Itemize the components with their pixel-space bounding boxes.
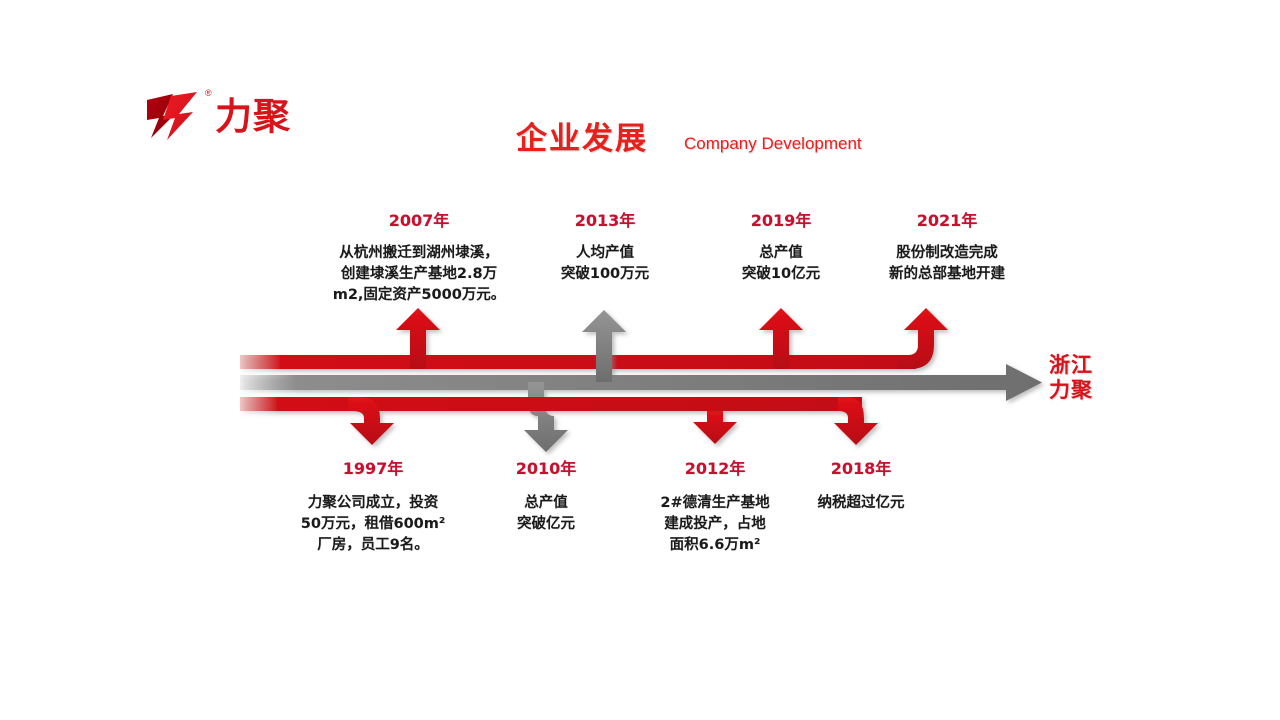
timeline-node-2013: 2013年 人均产值 突破100万元 xyxy=(524,207,686,285)
timeline-node-2012: 2012年 2#德清生产基地 建成投产，占地 面积6.6万m² xyxy=(632,455,798,556)
node-year: 2021年 xyxy=(858,207,1036,231)
timeline-node-1997: 1997年 力聚公司成立，投资 50万元，租借600m² 厂房，员工9名。 xyxy=(262,455,484,556)
registered-trademark-symbol: ® xyxy=(205,88,212,98)
timeline-end-label: 浙江 力聚 xyxy=(1049,353,1093,403)
top-red-track xyxy=(240,308,948,369)
timeline-node-2018: 2018年 纳税超过亿元 xyxy=(782,455,940,514)
node-description: 人均产值 突破100万元 xyxy=(524,243,686,285)
node-description: 纳税超过亿元 xyxy=(782,493,940,514)
page-title-english: Company Development xyxy=(684,134,862,154)
node-year: 2013年 xyxy=(524,207,686,231)
middle-gray-track xyxy=(240,310,1042,452)
timeline-node-2019: 2019年 总产值 突破10亿元 xyxy=(700,207,862,285)
node-description: 从杭州搬迁到湖州埭溪， 创建埭溪生产基地2.8万 m2,固定资产5000万元。 xyxy=(288,243,550,306)
timeline-node-2007: 2007年 从杭州搬迁到湖州埭溪， 创建埭溪生产基地2.8万 m2,固定资产50… xyxy=(288,207,550,306)
node-year: 2010年 xyxy=(466,455,626,479)
node-description: 总产值 突破10亿元 xyxy=(700,243,862,285)
node-description: 2#德清生产基地 建成投产，占地 面积6.6万m² xyxy=(632,493,798,556)
logo-wordmark: 力聚 xyxy=(215,95,291,139)
bottom-red-track xyxy=(240,397,878,445)
node-description: 股份制改造完成 新的总部基地开建 xyxy=(858,243,1036,285)
node-year: 2012年 xyxy=(632,455,798,479)
timeline-node-2021: 2021年 股份制改造完成 新的总部基地开建 xyxy=(858,207,1036,285)
node-year: 1997年 xyxy=(262,455,484,479)
timeline-node-2010: 2010年 总产值 突破亿元 xyxy=(466,455,626,535)
node-description: 力聚公司成立，投资 50万元，租借600m² 厂房，员工9名。 xyxy=(262,493,484,556)
node-description: 总产值 突破亿元 xyxy=(466,493,626,535)
node-year: 2019年 xyxy=(700,207,862,231)
company-logo: ® 力聚 xyxy=(145,88,445,150)
node-year: 2007年 xyxy=(288,207,550,231)
liju-lightning-logo-icon xyxy=(145,92,207,142)
page-title-chinese: 企业发展 xyxy=(516,113,648,158)
node-year: 2018年 xyxy=(782,455,940,479)
